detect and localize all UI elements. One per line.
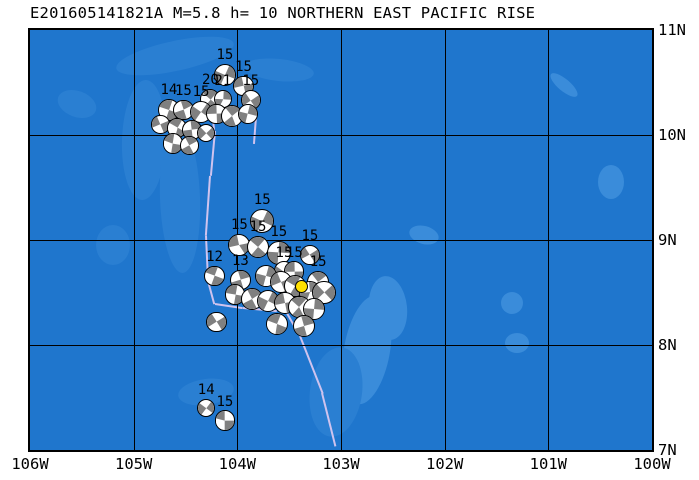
bathymetry-patch [407, 222, 441, 247]
gridline-parallel [30, 240, 652, 241]
focal-mechanism-beachball [247, 236, 269, 258]
y-axis-tick-label: 11N [658, 21, 686, 39]
event-day-label: 15 [175, 83, 192, 99]
event-day-label: 15 [216, 47, 233, 63]
bathymetry-patch [505, 333, 529, 353]
bathymetry-patch [53, 84, 99, 122]
bathymetry-patch [501, 292, 523, 314]
event-day-label: 15 [235, 59, 252, 75]
y-axis-tick-mark [648, 345, 654, 346]
y-axis-tick-label: 10N [658, 126, 686, 144]
bathymetry-patch [598, 165, 624, 199]
event-day-label: 15 [242, 73, 259, 89]
x-axis-tick-label: 101W [530, 455, 567, 473]
y-axis-tick-mark [648, 240, 654, 241]
y-axis-tick-label: 8N [658, 336, 677, 354]
focal-mechanism-beachball [293, 315, 315, 337]
x-axis-tick-mark [548, 446, 549, 452]
y-axis-tick-mark [648, 135, 654, 136]
map-plot-area: 1515202115141515151515151512131515151415 [28, 28, 654, 452]
focal-mechanism-beachball [206, 312, 226, 332]
event-day-label: 12 [206, 249, 223, 265]
event-day-label: 15 [301, 228, 318, 244]
focal-mechanism-beachball [215, 410, 235, 430]
focal-mechanism-beachball [266, 313, 288, 335]
event-day-label: 15 [193, 84, 210, 100]
focal-mechanism-beachball [197, 399, 215, 417]
gridline-parallel [30, 135, 652, 136]
focal-mechanism-beachball [238, 104, 258, 124]
event-day-label: 15 [231, 217, 248, 233]
mainshock-marker [295, 280, 308, 293]
event-day-label: 15 [254, 192, 271, 208]
event-day-label: 14 [198, 382, 215, 398]
bathymetry-patch [547, 69, 581, 100]
bathymetry-patch [96, 225, 130, 265]
x-axis-tick-label: 105W [115, 455, 152, 473]
event-day-label: 15 [250, 219, 267, 235]
focal-mechanism-beachball [204, 266, 224, 286]
x-axis-tick-label: 106W [11, 455, 48, 473]
event-day-label: 13 [232, 253, 249, 269]
event-day-label: 15 [286, 245, 303, 261]
event-day-label: 21 [214, 73, 231, 89]
x-axis-tick-mark [237, 446, 238, 452]
y-axis-tick-label: 7N [658, 441, 677, 459]
page-title: E201605141821A M=5.8 h= 10 NORTHERN EAST… [30, 4, 535, 22]
event-day-label: 15 [216, 394, 233, 410]
x-axis-tick-mark [341, 446, 342, 452]
ridge-axis-segment [205, 176, 211, 236]
focal-mechanism-beachball [197, 124, 215, 142]
y-axis-tick-label: 9N [658, 231, 677, 249]
gridline-parallel [30, 345, 652, 346]
x-axis-tick-mark [134, 446, 135, 452]
x-axis-tick-mark [445, 446, 446, 452]
event-day-label: 15 [310, 254, 327, 270]
focal-mechanism-beachball [180, 136, 198, 154]
event-day-label: 15 [270, 224, 287, 240]
x-axis-tick-label: 102W [426, 455, 463, 473]
x-axis-tick-label: 103W [322, 455, 359, 473]
x-axis-tick-label: 104W [219, 455, 256, 473]
